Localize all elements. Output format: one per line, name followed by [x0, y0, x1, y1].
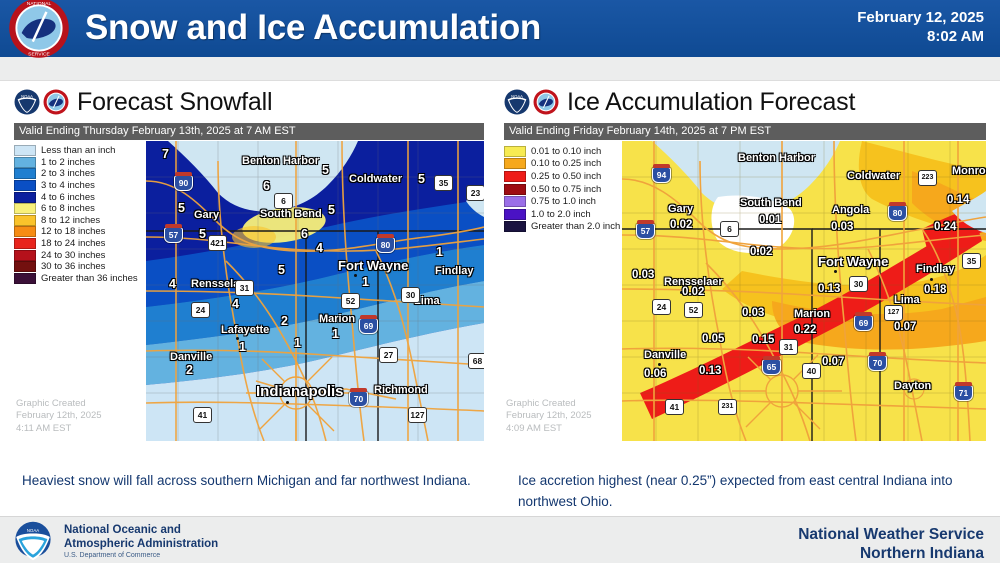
snow-value-label: 1 [436, 245, 443, 259]
legend-label: 24 to 30 inches [41, 250, 105, 261]
legend-label: 2 to 3 inches [41, 168, 95, 179]
legend-swatch [14, 157, 36, 168]
shield-number: 80 [381, 240, 390, 250]
us-route-shield: 31 [779, 339, 798, 355]
legend-item: 24 to 30 inches [14, 249, 138, 261]
snow-value-label: 5 [328, 203, 335, 217]
legend-swatch [504, 196, 526, 207]
snowfall-panel: NOAA Forecast Snowfall Valid Ending Thur… [14, 84, 484, 441]
ice-map-container[interactable]: 0.01 to 0.10 inch 0.10 to 0.25 inch 0.25… [504, 141, 986, 441]
map-city-label: Danville [644, 349, 686, 361]
legend-label: 1 to 2 inches [41, 157, 95, 168]
map-city-label: Benton Harbor [242, 155, 319, 167]
svg-text:SERVICE: SERVICE [28, 51, 50, 57]
us-route-shield: 6 [274, 193, 293, 209]
legend-swatch [14, 168, 36, 179]
ice-value-label: 0.22 [794, 324, 816, 336]
shield-number: 70 [873, 358, 882, 368]
svg-text:NOAA: NOAA [27, 528, 40, 533]
snowfall-map-image[interactable]: Benton Harbor Coldwater Gary South Bend … [146, 141, 484, 441]
nws-seal-icon: NATIONAL SERVICE [8, 0, 70, 59]
snow-value-label: 5 [278, 263, 285, 277]
interstate-shield: 57 [164, 227, 183, 243]
legend-item: 1.0 to 2.0 inch [504, 208, 620, 221]
legend-item: 0.10 to 0.25 inch [504, 158, 620, 171]
us-route-shield: 231 [718, 399, 737, 415]
page-title: Snow and Ice Accumulation [85, 4, 541, 52]
us-route-shield: 30 [401, 287, 420, 303]
noaa-logo-icon: NOAA [10, 521, 56, 561]
map-city-label: South Bend [260, 208, 322, 220]
legend-swatch [504, 158, 526, 169]
interstate-shield: 90 [174, 175, 193, 191]
page-header: NATIONAL SERVICE Snow and Ice Accumulati… [0, 0, 1000, 57]
legend-swatch [14, 273, 36, 284]
snowfall-valid-bar: Valid Ending Thursday February 13th, 202… [14, 123, 484, 140]
ice-value-label: 0.15 [752, 334, 774, 346]
nws-seal-icon [43, 89, 69, 115]
header-date-text: February 12, 2025 [857, 8, 984, 27]
created-line: 4:11 AM EST [16, 423, 102, 436]
map-city-label: Findlay [916, 263, 955, 275]
created-line: 4:09 AM EST [506, 423, 592, 436]
snow-value-label: 1 [332, 327, 339, 341]
us-route-shield: 27 [379, 347, 398, 363]
legend-item: 8 to 12 inches [14, 215, 138, 227]
legend-item: 4 to 6 inches [14, 191, 138, 203]
legend-label: 8 to 12 inches [41, 215, 100, 226]
snowfall-panel-header: NOAA Forecast Snowfall [14, 84, 484, 120]
legend-item: 0.01 to 0.10 inch [504, 145, 620, 158]
office-region: Northern Indiana [798, 544, 984, 563]
legend-swatch [504, 146, 526, 157]
legend-item: 0.25 to 0.50 inch [504, 170, 620, 183]
snowfall-title: Forecast Snowfall [77, 88, 272, 117]
snowfall-caption: Heaviest snow will fall across southern … [22, 470, 472, 491]
ice-value-label: 0.06 [644, 368, 666, 380]
office-name: National Weather Service [798, 525, 984, 544]
us-route-shield: 31 [235, 280, 254, 296]
office-identifier: National Weather Service Northern Indian… [798, 525, 984, 563]
us-route-shield: 421 [208, 235, 227, 251]
map-city-label: Gary [194, 209, 219, 221]
interstate-shield: 80 [376, 237, 395, 253]
shield-number: 69 [859, 318, 868, 328]
snow-value-label: 4 [316, 241, 323, 255]
nws-seal-icon [533, 89, 559, 115]
ice-value-label: 0.03 [742, 307, 764, 319]
snow-value-label: 6 [263, 179, 270, 193]
interstate-shield: 80 [888, 205, 907, 221]
map-city-label: Danville [170, 351, 212, 363]
header-divider [0, 57, 1000, 81]
interstate-shield: 94 [652, 167, 671, 183]
snow-value-label: 1 [362, 275, 369, 289]
legend-swatch [504, 209, 526, 220]
legend-swatch [504, 171, 526, 182]
us-route-shield: 127 [408, 407, 427, 423]
snow-value-label: 2 [186, 363, 193, 377]
map-city-label: Gary [668, 203, 693, 215]
ice-caption: Ice accretion highest (near 0.25”) expec… [518, 470, 968, 512]
svg-text:NOAA: NOAA [21, 94, 33, 99]
noaa-wordmark: National Oceanic and Atmospheric Adminis… [64, 524, 218, 551]
us-route-shield: 52 [341, 293, 360, 309]
city-dot [658, 363, 661, 366]
ice-map-image[interactable]: Benton Harbor Coldwater Monroe Gary Sout… [622, 141, 986, 441]
ice-value-label: 0.02 [682, 286, 704, 298]
svg-text:NOAA: NOAA [511, 94, 523, 99]
interstate-shield: 69 [359, 318, 378, 334]
ice-value-label: 0.13 [699, 365, 721, 377]
legend-swatch [14, 203, 36, 214]
snowfall-map-container[interactable]: Less than an inch 1 to 2 inches 2 to 3 i… [14, 141, 484, 441]
legend-label: Greater than 2.0 inch [531, 221, 620, 232]
legend-swatch [504, 184, 526, 195]
interstate-shield: 70 [349, 391, 368, 407]
legend-label: 30 to 36 inches [41, 261, 105, 272]
ice-legend: 0.01 to 0.10 inch 0.10 to 0.25 inch 0.25… [504, 145, 620, 233]
map-city-label: Fort Wayne [818, 254, 888, 269]
interstate-shield: 70 [868, 355, 887, 371]
ice-value-label: 0.24 [934, 221, 956, 233]
us-route-shield: 30 [849, 276, 868, 292]
interstate-shield: 65 [762, 359, 781, 375]
legend-swatch [14, 226, 36, 237]
city-dot [930, 278, 933, 281]
ice-value-label: 0.05 [702, 333, 724, 345]
legend-swatch [14, 180, 36, 191]
snow-value-label: 1 [239, 340, 246, 354]
legend-item: 12 to 18 inches [14, 226, 138, 238]
us-route-shield: 24 [191, 302, 210, 318]
legend-swatch [14, 238, 36, 249]
noaa-line-1: National Oceanic and [64, 524, 218, 538]
noaa-department-line: U.S. Department of Commerce [64, 552, 160, 559]
created-line: February 12th, 2025 [16, 410, 102, 423]
us-route-shield: 40 [802, 363, 821, 379]
map-city-label: Indianapolis [256, 383, 344, 400]
legend-label: 1.0 to 2.0 inch [531, 209, 591, 220]
us-route-shield: 6 [720, 221, 739, 237]
map-city-label: Benton Harbor [738, 152, 815, 164]
shield-number: 90 [179, 178, 188, 188]
legend-label: 4 to 6 inches [41, 192, 95, 203]
us-route-shield: 223 [918, 170, 937, 186]
legend-item: 2 to 3 inches [14, 168, 138, 180]
map-city-label: South Bend [740, 197, 802, 209]
legend-item: 1 to 2 inches [14, 157, 138, 169]
legend-item: 0.50 to 0.75 inch [504, 183, 620, 196]
snow-value-label: 5 [178, 201, 185, 215]
shield-number: 71 [959, 388, 968, 398]
ice-value-label: 0.14 [947, 194, 969, 206]
legend-swatch [504, 221, 526, 232]
ice-panel-header: NOAA Ice Accumulation Forecast [504, 84, 986, 120]
shield-number: 57 [169, 230, 178, 240]
snow-value-label: 6 [301, 227, 308, 241]
ice-value-label: 0.18 [924, 284, 946, 296]
legend-label: Greater than 36 inches [41, 273, 138, 284]
legend-item: 6 to 8 inches [14, 203, 138, 215]
snow-value-label: 2 [281, 314, 288, 328]
legend-item: Greater than 2.0 inch [504, 221, 620, 234]
snow-value-label: 5 [199, 227, 206, 241]
map-city-label: Marion [794, 308, 830, 320]
legend-label: 0.10 to 0.25 inch [531, 158, 601, 169]
ice-created-stamp: Graphic Created February 12th, 2025 4:09… [506, 398, 592, 436]
ice-panel: NOAA Ice Accumulation Forecast Valid End… [504, 84, 986, 441]
ice-agency-logos: NOAA [504, 89, 559, 115]
shield-number: 69 [364, 321, 373, 331]
header-datetime: February 12, 2025 8:02 AM [857, 8, 984, 46]
city-dot [834, 270, 837, 273]
shield-number: 57 [641, 226, 650, 236]
legend-label: 3 to 4 inches [41, 180, 95, 191]
us-route-shield: 41 [193, 407, 212, 423]
ice-value-label: 0.01 [759, 214, 781, 226]
us-route-shield: 24 [652, 299, 671, 315]
noaa-line-2: Atmospheric Administration [64, 538, 218, 552]
legend-label: 0.25 to 0.50 inch [531, 171, 601, 182]
legend-label: Less than an inch [41, 145, 115, 156]
snow-value-label: 1 [294, 336, 301, 350]
us-route-shield: 52 [684, 302, 703, 318]
legend-swatch [14, 261, 36, 272]
legend-label: 6 to 8 inches [41, 203, 95, 214]
map-city-label: Lafayette [221, 324, 269, 336]
legend-swatch [14, 145, 36, 156]
legend-item: 0.75 to 1.0 inch [504, 195, 620, 208]
snow-value-label: 4 [232, 297, 239, 311]
legend-item: Less than an inch [14, 145, 138, 157]
map-city-label: Findlay [435, 265, 474, 277]
shield-number: 80 [893, 208, 902, 218]
interstate-shield: 69 [854, 315, 873, 331]
us-route-shield: 68 [468, 353, 484, 369]
snowfall-agency-logos: NOAA [14, 89, 69, 115]
map-city-label: Marion [319, 313, 355, 325]
interstate-shield: 71 [954, 385, 973, 401]
snow-value-label: 4 [169, 277, 176, 291]
map-city-label: Angola [832, 204, 869, 216]
legend-swatch [14, 215, 36, 226]
svg-text:NATIONAL: NATIONAL [27, 1, 52, 7]
us-route-shield: 35 [962, 253, 981, 269]
noaa-logo-icon: NOAA [504, 89, 530, 115]
us-route-shield: 35 [434, 175, 453, 191]
page-footer: NOAA National Oceanic and Atmospheric Ad… [0, 516, 1000, 563]
snowfall-created-stamp: Graphic Created February 12th, 2025 4:11… [16, 398, 102, 436]
snow-value-label: 7 [162, 147, 169, 161]
legend-item: 18 to 24 inches [14, 238, 138, 250]
map-city-label: Coldwater [349, 173, 402, 185]
legend-item: Greater than 36 inches [14, 273, 138, 285]
city-dot [286, 401, 289, 404]
us-route-shield: 41 [665, 399, 684, 415]
map-city-label: Coldwater [847, 170, 900, 182]
ice-value-label: 0.07 [894, 321, 916, 333]
legend-item: 3 to 4 inches [14, 180, 138, 192]
created-line: February 12th, 2025 [506, 410, 592, 423]
ice-value-label: 0.13 [818, 283, 840, 295]
legend-swatch [14, 192, 36, 203]
legend-label: 18 to 24 inches [41, 238, 105, 249]
ice-title: Ice Accumulation Forecast [567, 88, 855, 117]
snow-value-label: 5 [418, 172, 425, 186]
ice-value-label: 0.03 [831, 221, 853, 233]
ice-value-label: 0.02 [750, 246, 772, 258]
shield-number: 65 [767, 362, 776, 372]
ice-value-label: 0.07 [822, 356, 844, 368]
map-city-label: Fort Wayne [338, 258, 408, 273]
map-city-label: Monroe [952, 165, 986, 177]
legend-label: 12 to 18 inches [41, 226, 105, 237]
noaa-logo-icon: NOAA [14, 89, 40, 115]
header-time-text: 8:02 AM [857, 27, 984, 46]
created-line: Graphic Created [16, 398, 102, 411]
legend-swatch [14, 250, 36, 261]
created-line: Graphic Created [506, 398, 592, 411]
legend-label: 0.75 to 1.0 inch [531, 196, 596, 207]
legend-item: 30 to 36 inches [14, 261, 138, 273]
shield-number: 70 [354, 394, 363, 404]
ice-value-label: 0.03 [632, 269, 654, 281]
interstate-shield: 57 [636, 223, 655, 239]
legend-label: 0.50 to 0.75 inch [531, 184, 601, 195]
city-dot [354, 274, 357, 277]
snow-value-label: 5 [322, 163, 329, 177]
legend-label: 0.01 to 0.10 inch [531, 146, 601, 157]
ice-valid-bar: Valid Ending Friday February 14th, 2025 … [504, 123, 986, 140]
ice-value-label: 0.02 [670, 219, 692, 231]
snowfall-legend: Less than an inch 1 to 2 inches 2 to 3 i… [14, 145, 138, 284]
us-route-shield: 127 [884, 305, 903, 321]
shield-number: 94 [657, 170, 666, 180]
us-route-shield: 23 [466, 185, 484, 201]
map-city-label: Richmond [374, 384, 428, 396]
map-city-label: Dayton [894, 380, 931, 392]
